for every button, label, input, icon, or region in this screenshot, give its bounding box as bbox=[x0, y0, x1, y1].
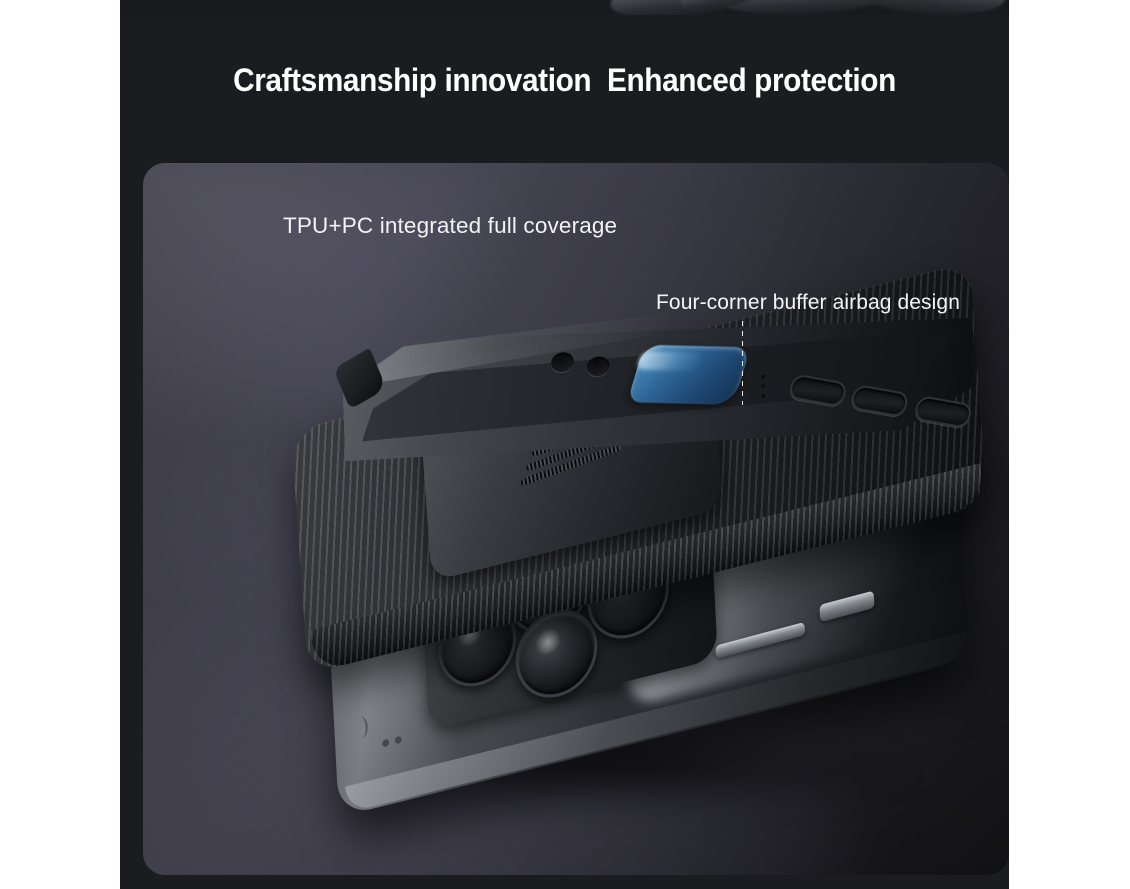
bleed-shape-b bbox=[719, 0, 896, 15]
product-scene bbox=[143, 163, 1009, 875]
product-feature-image: Craftsmanship innovation Enhanced protec… bbox=[0, 0, 1130, 889]
panel-feature-label: TPU+PC integrated full coverage bbox=[283, 213, 617, 239]
corner-airbag-gloss bbox=[636, 351, 703, 371]
button-cutout-3 bbox=[912, 395, 973, 429]
bleed-shape-c bbox=[854, 0, 1006, 15]
callout-leader-line bbox=[742, 321, 743, 405]
previous-section-bleed bbox=[120, 0, 1009, 15]
callout-label: Four-corner buffer airbag design bbox=[656, 291, 960, 315]
page-title: Craftsmanship innovation Enhanced protec… bbox=[151, 62, 978, 99]
feature-panel: TPU+PC integrated full coverage Four-cor… bbox=[143, 163, 1009, 875]
dark-canvas: Craftsmanship innovation Enhanced protec… bbox=[120, 0, 1009, 889]
